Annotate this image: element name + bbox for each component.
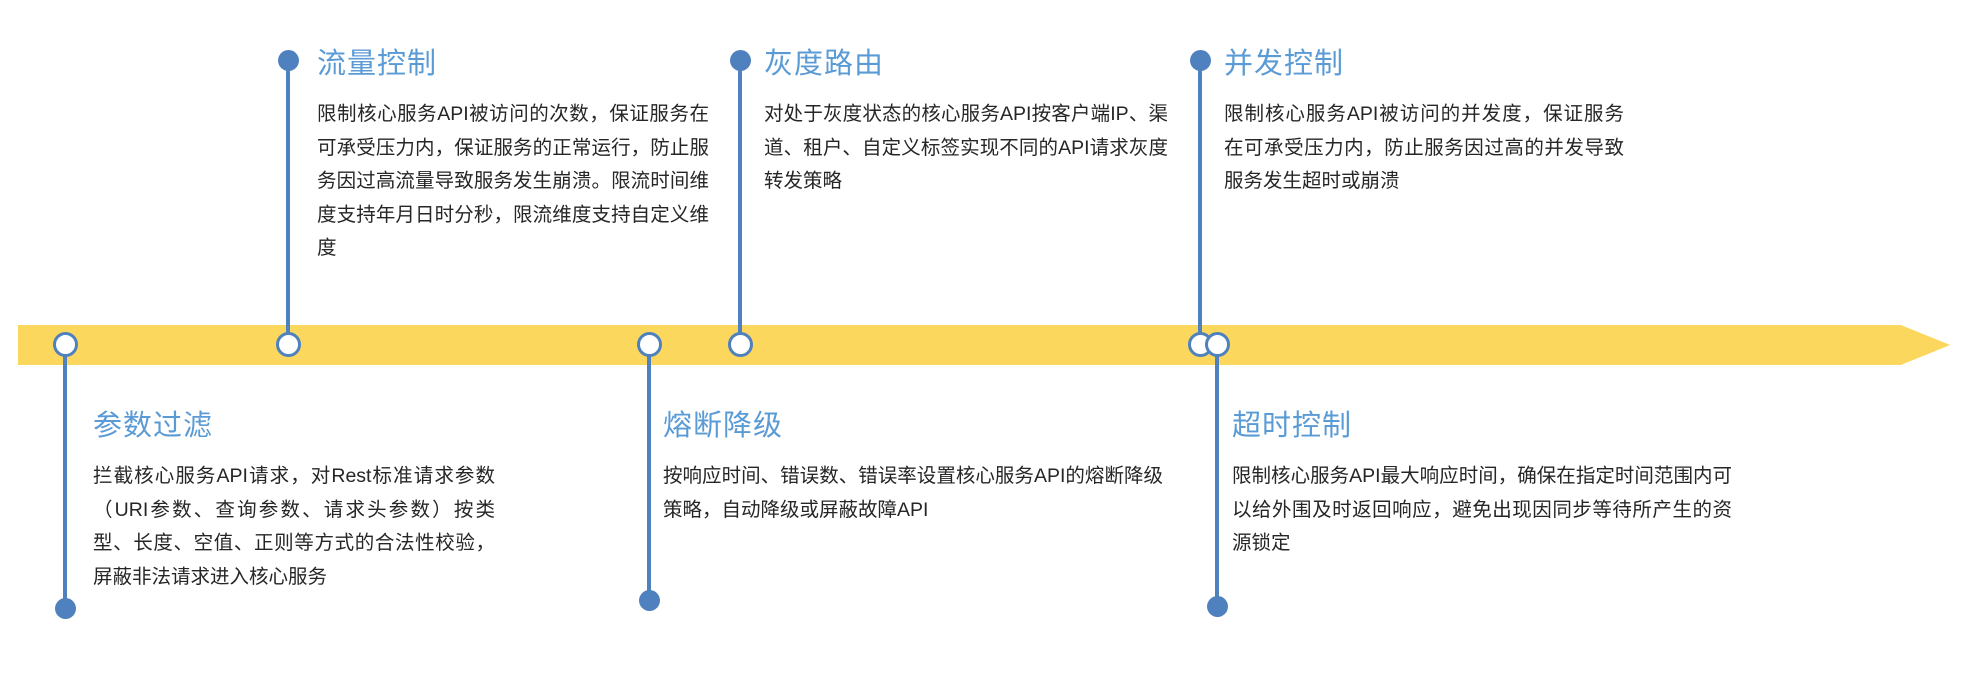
item-title-param-filter: 参数过滤 <box>93 410 495 443</box>
connector-dot-concurrency-control <box>1190 50 1211 71</box>
timeline-diagram: 流量控制 限制核心服务API被访问的次数，保证服务在可承受压力内，保证服务的正常… <box>0 0 1968 697</box>
item-title-timeout-control: 超时控制 <box>1232 410 1732 443</box>
connector-dot-param-filter <box>55 598 76 619</box>
item-body-circuit-breaker: 按响应时间、错误数、错误率设置核心服务API的熔断降级策略，自动降级或屏蔽故障A… <box>663 460 1163 527</box>
item-flow-control: 流量控制 限制核心服务API被访问的次数，保证服务在可承受压力内，保证服务的正常… <box>317 48 709 266</box>
connector-dot-flow-control <box>278 50 299 71</box>
item-title-concurrency-control: 并发控制 <box>1224 48 1624 81</box>
connector-flow-control <box>286 70 290 342</box>
item-param-filter: 参数过滤 拦截核心服务API请求，对Rest标准请求参数（URI参数、查询参数、… <box>93 410 495 594</box>
item-body-param-filter: 拦截核心服务API请求，对Rest标准请求参数（URI参数、查询参数、请求头参数… <box>93 460 495 594</box>
timeline-arrow-bar <box>18 325 1950 365</box>
timeline-node-circuit-breaker[interactable] <box>637 332 662 357</box>
connector-circuit-breaker <box>647 348 651 602</box>
item-body-gray-routing: 对处于灰度状态的核心服务API按客户端IP、渠道、租户、自定义标签实现不同的AP… <box>764 98 1168 199</box>
timeline-node-gray-routing[interactable] <box>728 332 753 357</box>
connector-dot-circuit-breaker <box>639 590 660 611</box>
connector-timeout-control <box>1215 348 1219 608</box>
connector-param-filter <box>63 348 67 610</box>
item-body-timeout-control: 限制核心服务API最大响应时间，确保在指定时间范围内可以给外围及时返回响应，避免… <box>1232 460 1732 561</box>
item-gray-routing: 灰度路由 对处于灰度状态的核心服务API按客户端IP、渠道、租户、自定义标签实现… <box>764 48 1168 199</box>
connector-dot-gray-routing <box>730 50 751 71</box>
item-body-concurrency-control: 限制核心服务API被访问的并发度，保证服务在可承受压力内，防止服务因过高的并发导… <box>1224 98 1624 199</box>
connector-concurrency-control <box>1198 70 1202 342</box>
item-title-flow-control: 流量控制 <box>317 48 709 81</box>
item-concurrency-control: 并发控制 限制核心服务API被访问的并发度，保证服务在可承受压力内，防止服务因过… <box>1224 48 1624 199</box>
connector-dot-timeout-control <box>1207 596 1228 617</box>
timeline-node-flow-control[interactable] <box>276 332 301 357</box>
connector-gray-routing <box>738 70 742 342</box>
timeline-node-timeout-control[interactable] <box>1205 332 1230 357</box>
timeline-node-param-filter[interactable] <box>53 332 78 357</box>
item-timeout-control: 超时控制 限制核心服务API最大响应时间，确保在指定时间范围内可以给外围及时返回… <box>1232 410 1732 561</box>
item-title-gray-routing: 灰度路由 <box>764 48 1168 81</box>
item-body-flow-control: 限制核心服务API被访问的次数，保证服务在可承受压力内，保证服务的正常运行，防止… <box>317 98 709 266</box>
item-title-circuit-breaker: 熔断降级 <box>663 410 1163 443</box>
item-circuit-breaker: 熔断降级 按响应时间、错误数、错误率设置核心服务API的熔断降级策略，自动降级或… <box>663 410 1163 527</box>
